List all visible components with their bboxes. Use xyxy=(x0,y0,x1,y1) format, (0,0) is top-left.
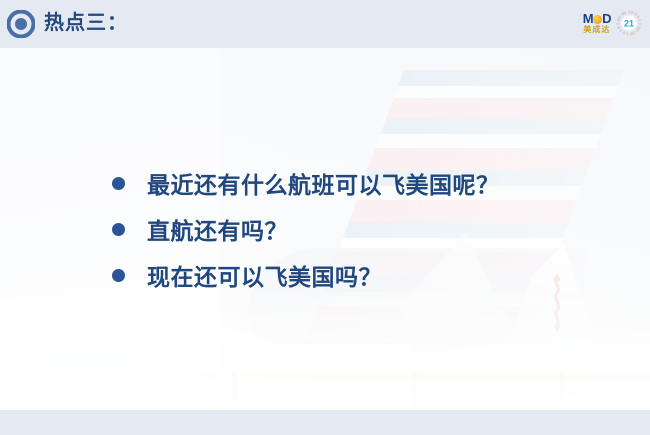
list-item-label: 直航还有吗？ xyxy=(147,212,288,246)
anniversary-wreath-icon: 21 xyxy=(616,10,642,36)
logo-chinese-name: 美成达 xyxy=(583,26,610,34)
list-item: 最近还有什么航班可以飞美国呢？ xyxy=(112,160,582,206)
bullseye-icon xyxy=(7,10,35,38)
footer-band xyxy=(0,410,650,435)
bullet-dot-icon xyxy=(112,177,125,190)
anniversary-number: 21 xyxy=(624,19,634,29)
bullet-list: 最近还有什么航班可以飞美国呢？ 直航还有吗？ 现在还可以飞美国吗？ xyxy=(112,160,582,298)
anniversary-badge: 21 xyxy=(616,10,642,36)
header-bar: 热点三： MD 美成达 21 xyxy=(0,0,650,48)
logo-mod: MD 美成达 xyxy=(583,12,611,34)
list-item: 现在还可以飞美国吗？ xyxy=(112,252,582,298)
page-title: 热点三： xyxy=(44,9,128,37)
logo-letter-d: D xyxy=(602,11,611,26)
bullet-dot-icon xyxy=(112,269,125,282)
list-item: 直航还有吗？ xyxy=(112,206,582,252)
logo-letter-m: M xyxy=(583,11,593,26)
brand-logo[interactable]: MD 美成达 21 xyxy=(583,6,642,40)
logo-wordmark: MD xyxy=(583,12,611,25)
logo-dot-icon xyxy=(593,15,602,24)
list-item-label: 现在还可以飞美国吗？ xyxy=(147,258,382,292)
list-item-label: 最近还有什么航班可以飞美国呢？ xyxy=(147,166,500,200)
slide-root: 热点三： MD 美成达 21 最近还有什么航班可以飞美国呢？ xyxy=(0,0,650,435)
bullet-dot-icon xyxy=(112,223,125,236)
